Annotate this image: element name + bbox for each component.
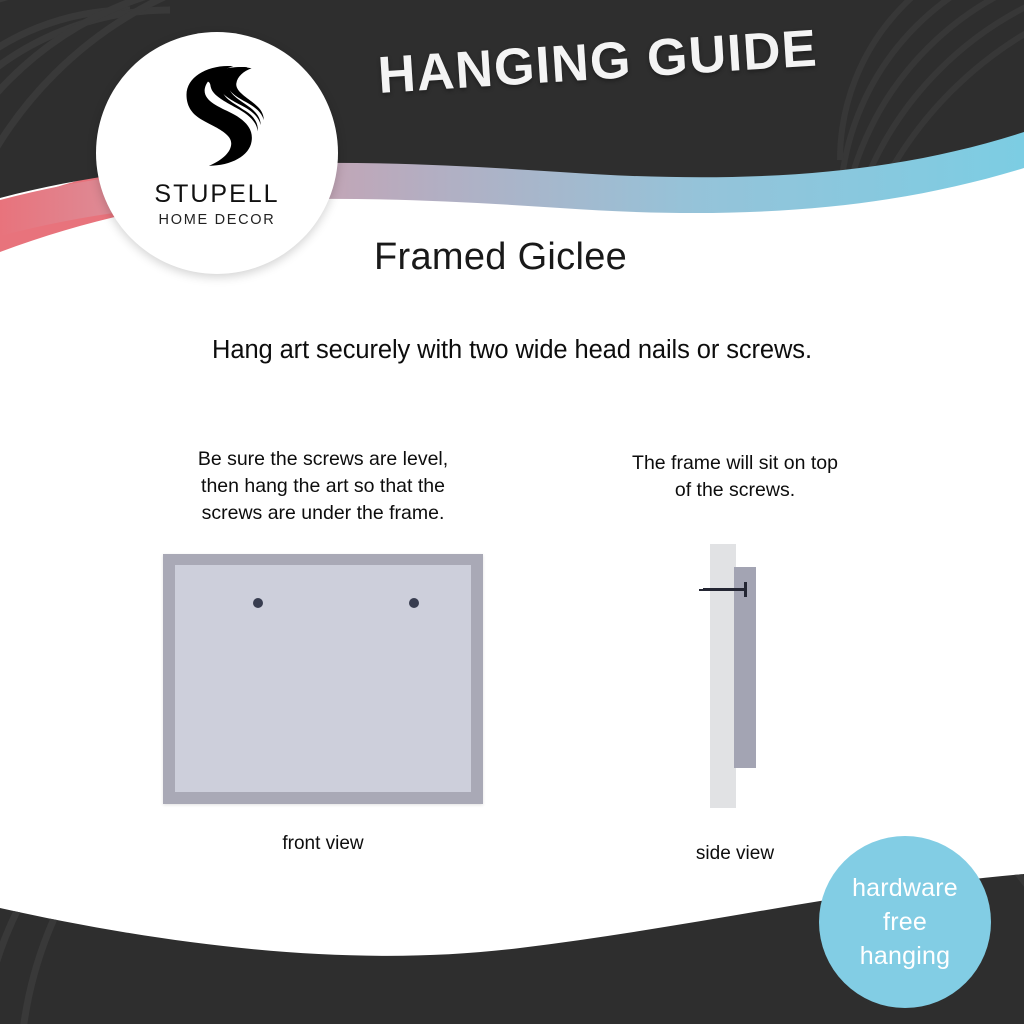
stupell-logo-badge: STUPELL HOME DECOR (96, 32, 338, 274)
hanging-guide-page: STUPELL HOME DECOR HANGING GUIDE Framed … (0, 0, 1024, 1024)
badge-line-3: hanging (860, 939, 950, 973)
nail-head-icon (744, 582, 747, 597)
side-view-caption: The frame will sit on top of the screws. (594, 450, 876, 504)
hardware-free-hanging-badge: hardware free hanging (819, 836, 991, 1008)
badge-line-2: free (883, 905, 927, 939)
brand-tagline: HOME DECOR (159, 213, 276, 228)
front-view-art-panel (175, 565, 471, 792)
front-view-diagram (163, 554, 483, 804)
side-view-caption-line-1: The frame will sit on top (594, 450, 876, 477)
front-view-caption-line-3: screws are under the frame. (140, 500, 506, 527)
front-view-caption-line-1: Be sure the screws are level, (140, 446, 506, 473)
front-view-caption-line-2: then hang the art so that the (140, 473, 506, 500)
screw-marker-left (253, 598, 263, 608)
front-view-label: front view (163, 833, 483, 855)
side-view-label: side view (640, 843, 830, 865)
nail-icon (703, 588, 747, 591)
badge-line-1: hardware (852, 871, 958, 905)
front-view-caption: Be sure the screws are level, then hang … (140, 446, 506, 527)
brand-name: STUPELL (154, 182, 279, 207)
main-instruction: Hang art securely with two wide head nai… (0, 336, 1024, 365)
side-view-caption-line-2: of the screws. (594, 477, 876, 504)
side-view-diagram (700, 544, 770, 808)
page-title: HANGING GUIDE (376, 18, 819, 106)
stupell-swoosh-logo-icon (156, 54, 278, 176)
side-view-frame (734, 567, 756, 768)
product-type: Framed Giclee (374, 236, 627, 279)
nail-point-icon (699, 589, 706, 591)
screw-marker-right (409, 598, 419, 608)
side-view-wall (710, 544, 736, 808)
